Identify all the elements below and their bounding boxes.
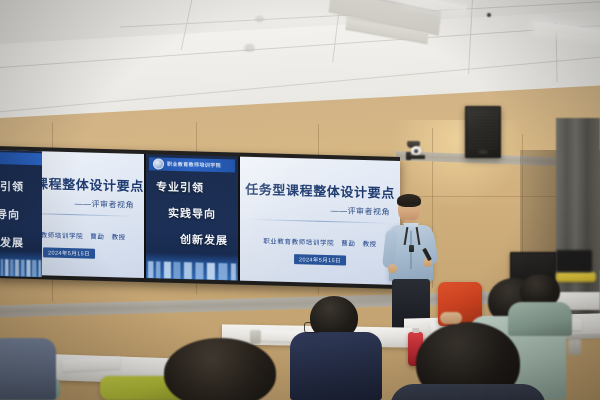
slide-cityscape-graphic [0,250,42,277]
screen-panel-far-left-dark: 引领 导向 新发展 [0,150,42,277]
attendee-glasses [304,322,320,333]
presenter-head [398,196,420,222]
attendee-torso [0,338,56,400]
slide-cityscape-graphic [146,252,238,280]
slide-slogan-list: 专业引领 实践导向 创新发展 [146,178,238,258]
slide-slogan-line: 创新发展 [154,230,230,248]
presenter-badge [409,245,414,252]
slide-subtitle: ——评审者视角 [75,198,135,211]
screen-panel-center-dark: 职业教育教师培训学院 专业引领 实践导向 创新发展 [146,154,238,280]
slide-slogan-line: 专业引领 [154,178,230,196]
slide-logo-banner: 职业教育教师培训学院 [149,157,235,172]
slide-date: 2024年5月15日 [43,247,95,258]
slide-slogan-line: 导向 [0,206,20,223]
metal-tumbler [568,338,581,355]
ptz-camera-icon [411,146,422,155]
slide-slogan-line: 新发展 [0,234,24,251]
attendee-shoulder [390,384,546,400]
attendee-navy-polo [288,296,384,400]
slide-logo-banner [0,152,42,165]
wall-speaker-icon [465,106,501,158]
classroom-photo-scene: 任务型课程整体设计要点 ——评审者视角 职业教育教师培训学院 曹勐 教授 202… [0,0,600,400]
presenter-glasses [400,205,418,211]
slide-slogan-line: 实践导向 [154,204,230,222]
slide-slogan-line: 引领 [0,178,24,195]
ceiling-smoke-detector [245,44,254,50]
projection-screen-wall: 任务型课程整体设计要点 ——评审者视角 职业教育教师培训学院 曹勐 教授 202… [0,146,400,289]
back-desk-equipment [556,250,592,272]
attendee-hand [440,312,462,324]
slide-date: 2024年5月15日 [294,254,346,265]
slide-divider [248,219,392,224]
presenter-lanyard [416,227,421,245]
presenter-hand-left [388,264,397,273]
camera-lens-icon [414,149,418,153]
speaker-port-icon [479,150,488,154]
attendee-head [164,338,276,400]
institute-emblem-icon [153,158,164,169]
ceiling-sprinkler [256,16,263,20]
institute-banner-text: 职业教育教师培训学院 [167,161,221,169]
attendee-torso [290,332,382,400]
presenter-lanyard [404,227,409,245]
ceiling-sensor [487,13,491,17]
attendee-left-edge [0,330,56,400]
camera-bracket-arm [406,152,411,160]
attendee-front-center [160,338,282,400]
attendee-front-right [404,322,532,400]
